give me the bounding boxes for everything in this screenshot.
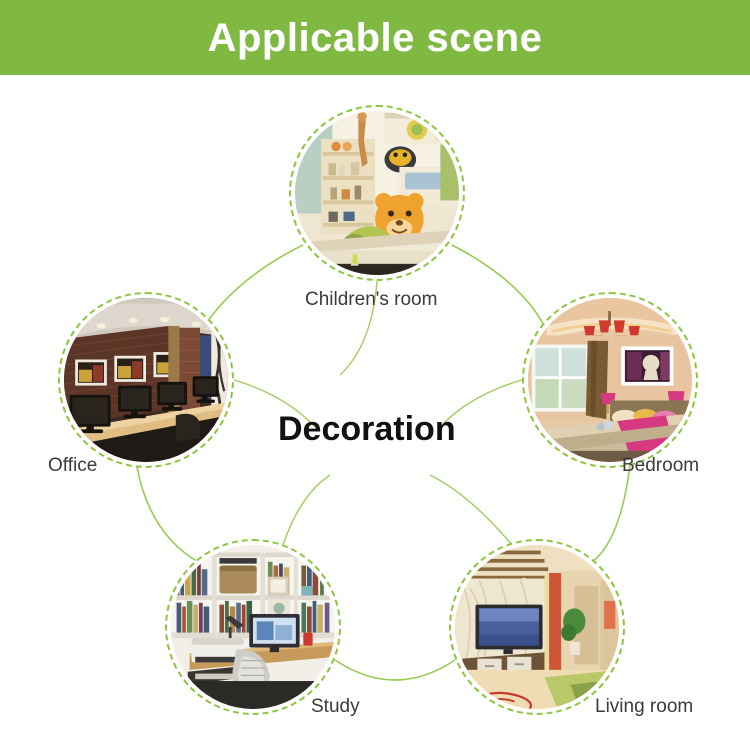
node-label-childrens-room: Children's room [305,290,437,309]
spoke-living [430,475,512,545]
page-title: Applicable scene [208,18,543,58]
bedroom-photo [528,298,692,462]
diagram-canvas: Children's room [0,75,750,750]
scene-infographic: Applicable scene [0,0,750,750]
node-label-office: Office [48,456,97,475]
arc-bedroom-living [588,465,630,565]
office-circle[interactable] [58,292,234,468]
arc-study-office [137,467,200,563]
office-photo [64,298,228,462]
childrens-room-circle[interactable] [289,105,465,281]
arc-living-study [335,660,455,680]
node-label-living-room: Living room [595,697,693,716]
study-circle[interactable] [165,539,341,715]
node-label-bedroom: Bedroom [622,456,699,475]
spoke-study [283,475,330,545]
node-label-study: Study [311,697,360,716]
center-title: Decoration [278,412,456,446]
living-room-circle[interactable] [449,539,625,715]
arc-office-children [205,245,303,325]
study-photo [171,545,335,709]
arc-children-bedroom [452,245,545,327]
bedroom-circle[interactable] [522,292,698,468]
living-room-photo [455,545,619,709]
header-banner: Applicable scene [0,0,750,75]
childrens-room-photo [295,111,459,275]
